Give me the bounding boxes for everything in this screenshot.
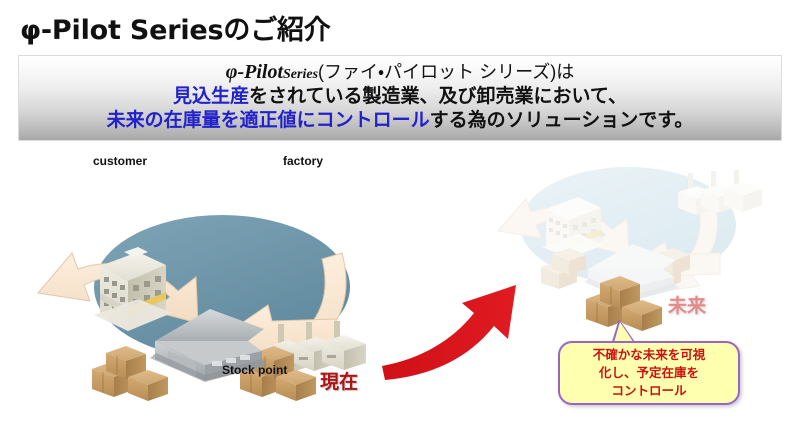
label-factory: factory: [283, 154, 323, 168]
banner-line-3-text: する為のソリューションです。: [430, 110, 694, 131]
slide-root: φ-Pilot Seriesのご紹介 φ-PilotSeries(ファイ・パイロ…: [0, 0, 800, 430]
callout-line-2: 化し、予定在庫を: [560, 365, 738, 383]
label-future: 未来: [668, 291, 706, 318]
factory-icon-future: [678, 170, 762, 215]
red-curved-arrow-icon: [382, 285, 516, 380]
banner-line-1: φ-PilotSeries(ファイ・パイロット シリーズ)は: [19, 56, 781, 82]
banner-line-2-text: をされている製造業、及び卸売業において、: [249, 86, 627, 107]
brand-name-series: Series: [283, 67, 318, 82]
present-scene: [38, 215, 366, 401]
banner-line-2-highlight: 見込生産: [173, 86, 249, 107]
banner-line-3-highlight: 未来の在庫量を適正値にコントロール: [107, 110, 430, 131]
label-present: 現在: [320, 367, 358, 394]
banner-line-3: 未来の在庫量を適正値にコントロールする為のソリューションです。: [19, 106, 781, 130]
brand-name-phi-pilot: φ-Pilot: [226, 61, 283, 83]
summary-banner: φ-PilotSeries(ファイ・パイロット シリーズ)は 見込生産をされてい…: [18, 55, 782, 141]
page-title: φ-Pilot Seriesのご紹介: [20, 8, 331, 47]
callout-bubble: 不確かな未来を可視 化し、予定在庫を コントロール: [558, 341, 740, 405]
callout-line-3: コントロール: [560, 383, 738, 401]
page-title-text: φ-Pilot Seriesのご紹介: [20, 15, 331, 46]
callout-line-1: 不確かな未来を可視: [560, 343, 738, 365]
banner-line-1-tail: (ファイ・パイロット シリーズ)は: [318, 62, 574, 82]
label-stock-point: Stock point: [222, 363, 287, 377]
banner-line-2: 見込生産をされている製造業、及び卸売業において、: [19, 82, 781, 106]
label-customer: customer: [93, 154, 147, 168]
